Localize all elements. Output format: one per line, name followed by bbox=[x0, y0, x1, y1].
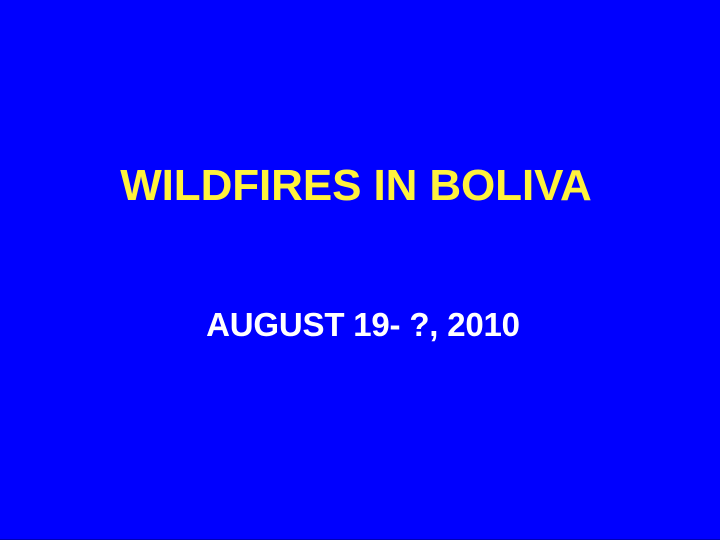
title-placeholder[interactable]: WILDFIRES IN BOLIVA bbox=[0, 163, 712, 210]
subtitle-placeholder[interactable]: AUGUST 19- ?, 2010 bbox=[0, 307, 720, 343]
presentation-slide: WILDFIRES IN BOLIVA AUGUST 19- ?, 2010 bbox=[0, 0, 720, 540]
slide-subtitle: AUGUST 19- ?, 2010 bbox=[206, 307, 520, 343]
slide-title: WILDFIRES IN BOLIVA bbox=[120, 163, 592, 210]
